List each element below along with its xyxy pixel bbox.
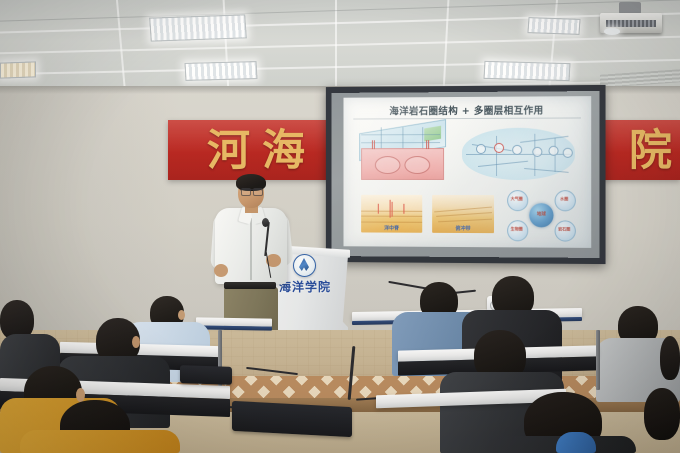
speaker-shirt-placket (250, 218, 252, 280)
ceiling-light-panel (527, 17, 580, 35)
sphere-label-tr: 水圈 (555, 196, 574, 202)
ceiling-light-panel (149, 14, 247, 41)
banner-char-2: 海 (262, 130, 305, 173)
banner-char-3: 院 (629, 130, 672, 173)
audience-head (660, 336, 680, 380)
subduction-cross-section: 俯冲带 (432, 195, 494, 233)
projector-ports (606, 20, 656, 27)
wall-left-shading (0, 86, 180, 336)
audience-ear (132, 336, 140, 348)
rift-caption: 洋中脊 (361, 225, 422, 232)
chair-back (180, 365, 232, 385)
sphere-center-label: 地球 (529, 211, 553, 217)
oceanic-lithosphere-block-diagram (359, 126, 444, 182)
sphere-label-bl: 生物圈 (507, 226, 526, 232)
audience-ear (76, 388, 85, 402)
lecture-hall-photo: 河 海 院 海洋岩石圈结构 + 多圈层相互作用 (0, 0, 680, 453)
banner-char-1: 河 (207, 130, 250, 173)
audience-head (644, 388, 680, 440)
audience-ear (178, 310, 185, 320)
desk-leg (596, 330, 600, 390)
ceiling-light-panel (185, 61, 258, 81)
chair-back (232, 401, 352, 437)
multi-sphere-interaction-diagram: 大气圈 水圈 生物圈 岩石圈 地球 (504, 189, 579, 242)
projector-lens (604, 28, 620, 35)
global-plate-boundary-map (462, 124, 575, 187)
audience-shoulder-item (556, 432, 596, 453)
ceiling-air-vent (600, 69, 680, 88)
ceiling-light-panel (0, 61, 36, 78)
sphere-label-br: 岩石圈 (555, 226, 574, 232)
microphone-head-icon (262, 218, 269, 227)
presentation-slide: 海洋岩石圈结构 + 多圈层相互作用 (343, 96, 591, 248)
slide-title-rule (353, 117, 581, 119)
subduction-caption: 俯冲带 (432, 225, 494, 232)
suspended-ceiling (0, 0, 680, 92)
slide-title: 海洋岩石圈结构 + 多圈层相互作用 (343, 102, 591, 117)
ceiling-light-panel (484, 61, 571, 81)
speaker-belt (224, 282, 276, 289)
sphere-label-tl: 大气圈 (507, 196, 526, 202)
rift-cross-section: 洋中脊 (361, 195, 422, 233)
audience-body (20, 430, 180, 453)
speaker-left-hand (214, 264, 228, 277)
glasses-bridge-icon (240, 189, 262, 195)
